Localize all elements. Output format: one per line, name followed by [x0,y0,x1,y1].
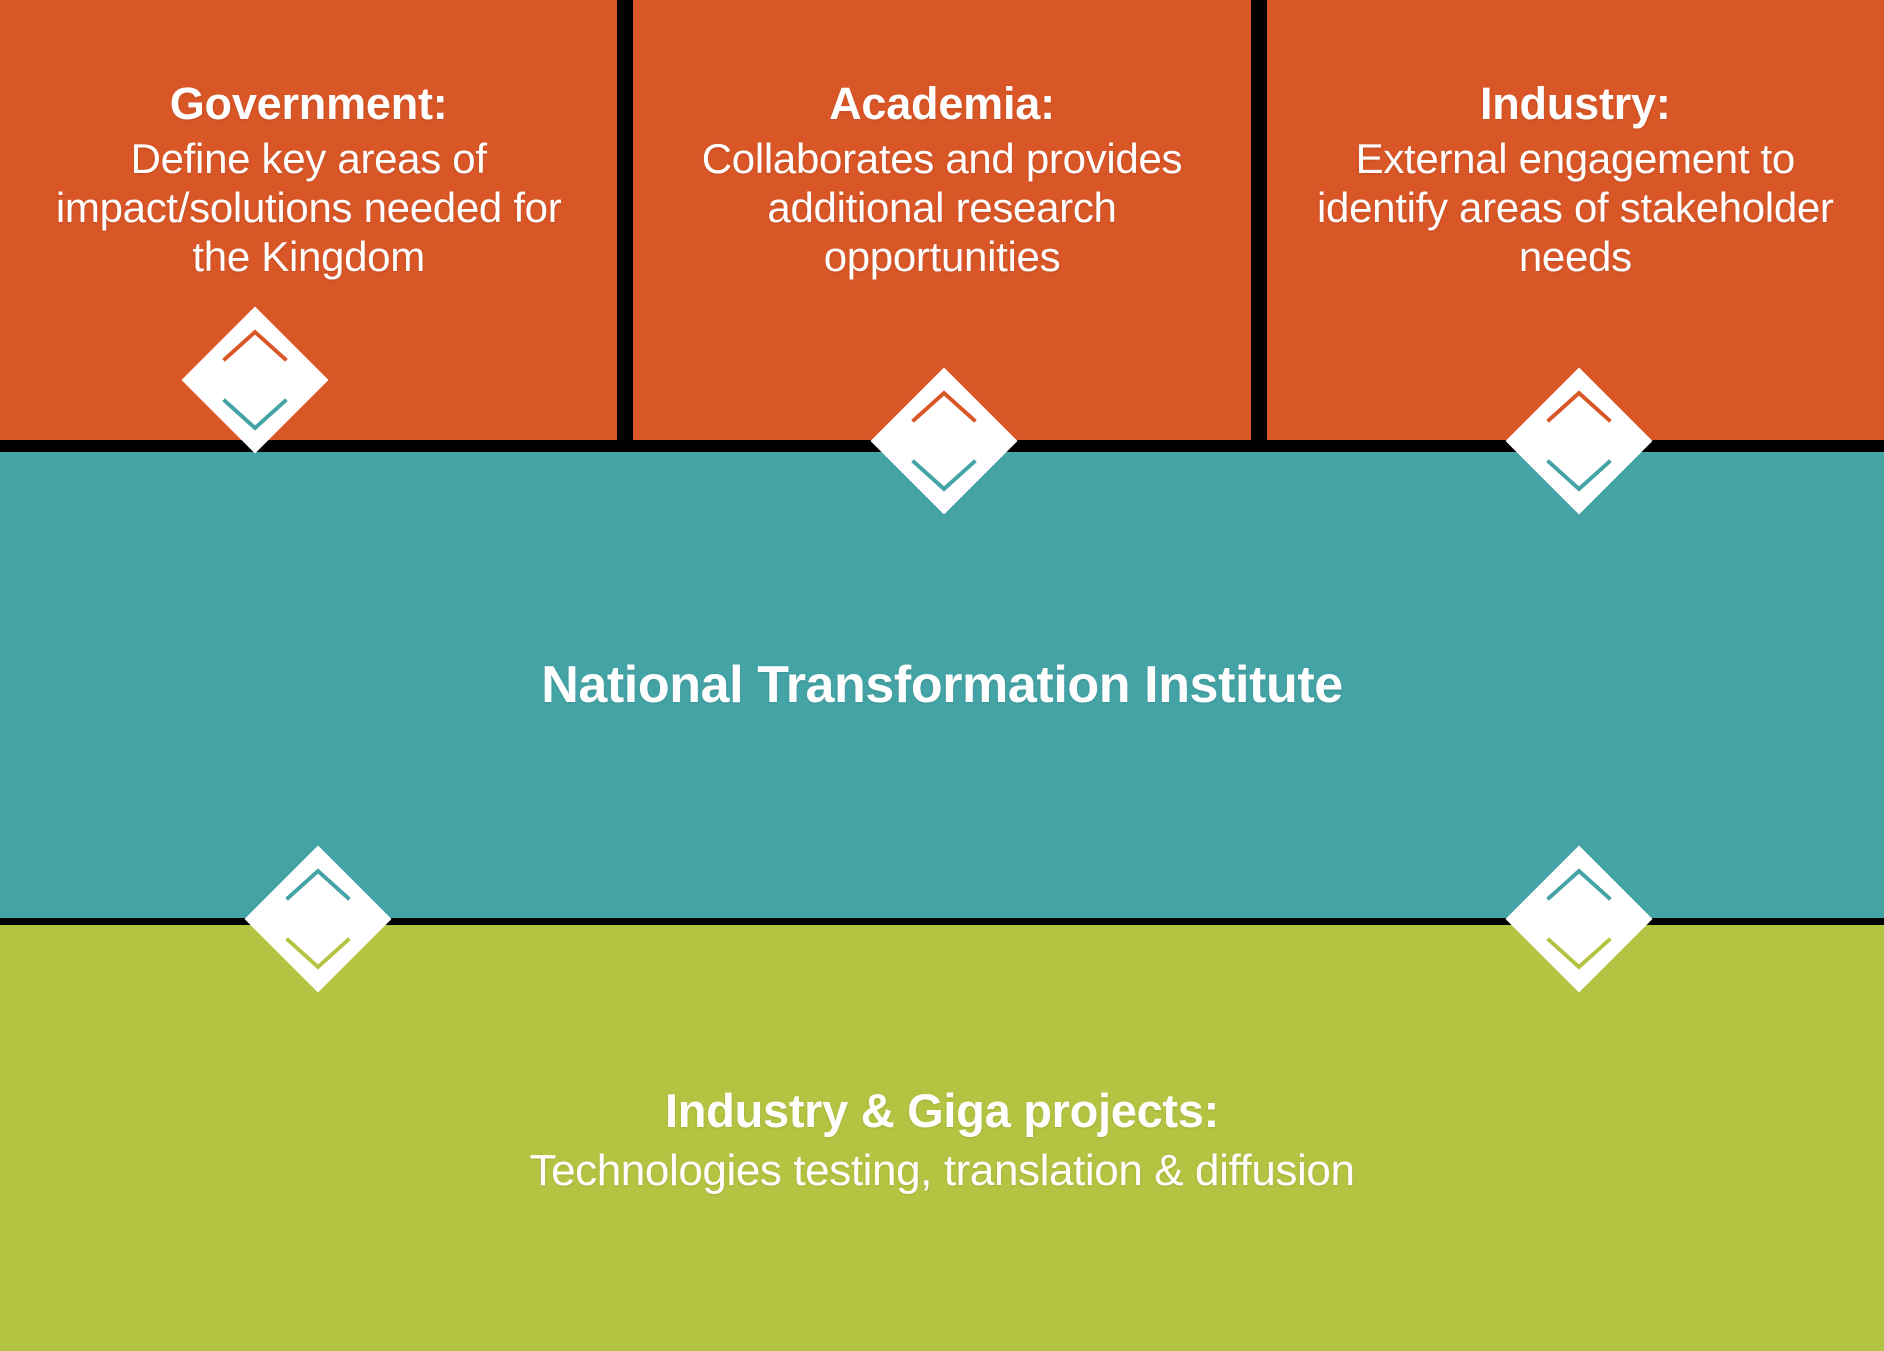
stakeholder-description-industry: External engagement to identify areas of… [1293,134,1858,281]
stakeholder-title-academia: Academia: [659,78,1224,130]
connector-institute-to-giga-left[interactable] [243,844,393,994]
connector-industry-to-institute[interactable] [1504,366,1654,516]
institute-title: National Transformation Institute [541,655,1343,715]
giga-projects-description: Technologies testing, translation & diff… [0,1145,1884,1198]
giga-projects-title: Industry & Giga projects: [0,1083,1884,1139]
diagram-canvas: Government: Define key areas of impact/s… [0,0,1884,1351]
diamond-body [1506,846,1653,993]
diamond-double-chevron-icon [869,366,1019,516]
diamond-double-chevron-icon [243,844,393,994]
connector-government-to-institute[interactable] [180,305,330,455]
diamond-double-chevron-icon [1504,366,1654,516]
stakeholder-title-industry: Industry: [1293,78,1858,130]
diamond-double-chevron-icon [180,305,330,455]
stakeholder-description-academia: Collaborates and provides additional res… [659,134,1224,281]
diamond-double-chevron-icon [1504,844,1654,994]
connector-academia-to-institute[interactable] [869,366,1019,516]
stakeholder-description-government: Define key areas of impact/solutions nee… [26,134,591,281]
diamond-body [245,846,392,993]
diamond-body [182,307,329,454]
stakeholder-title-government: Government: [26,78,591,130]
connector-institute-to-giga-right[interactable] [1504,844,1654,994]
diamond-body [871,368,1018,515]
diamond-body [1506,368,1653,515]
